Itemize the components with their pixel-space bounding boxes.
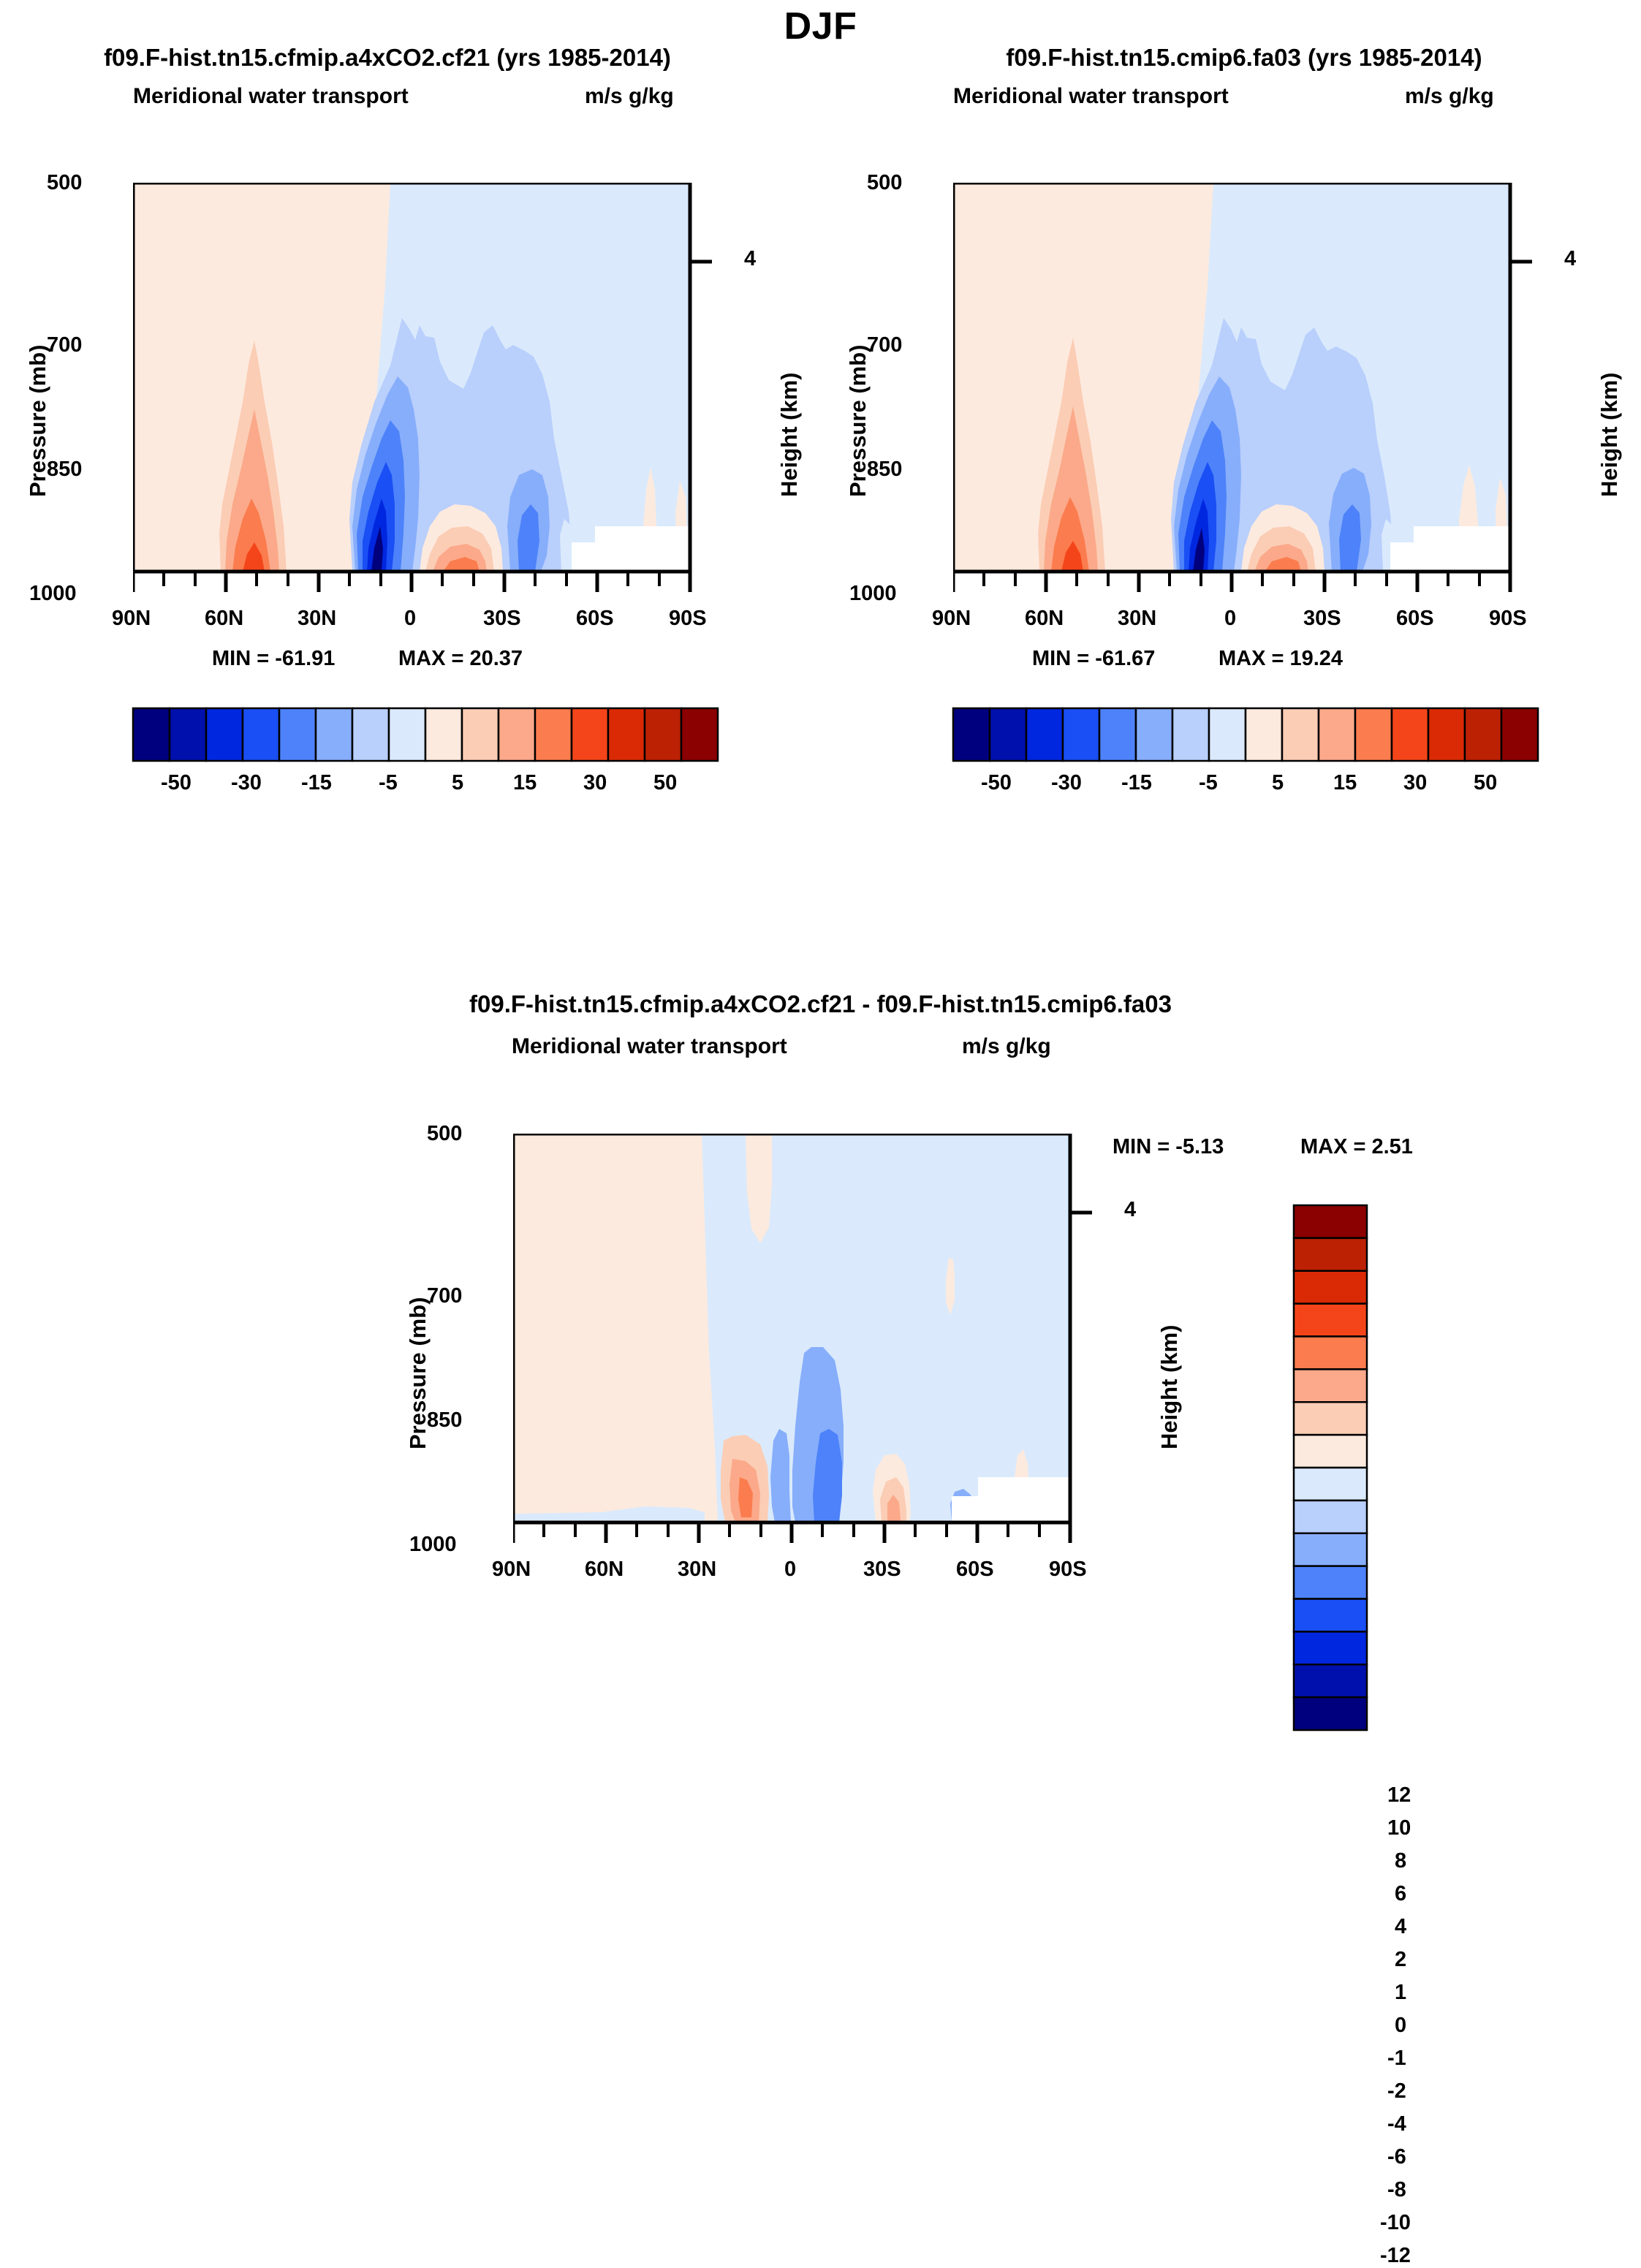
colorbar-top-left-cell-6[interactable] [352,708,389,761]
panel-bottom-diff-xtick-60S: 60S [956,1558,994,1582]
panel-top-left-ytick-1000: 1000 [29,582,77,606]
panel-top-left-cb-lab-15: 15 [513,771,537,795]
panel-bottom-diff-field-label: Meridional water transport [512,1034,787,1059]
panel-top-right-cb-lab--5: -5 [1199,771,1218,795]
panel-top-left-xtick-90S: 90S [669,607,707,631]
panel-bottom-diff-ytick-700: 700 [427,1284,462,1308]
panel-top-left-ytick-850: 850 [47,458,82,482]
colorbar-bottom-diff-cell-9[interactable] [1294,1501,1367,1533]
panel-top-left: f09.F-hist.tn15.cfmip.a4xCO2.cf21 (yrs 1… [0,44,820,965]
panel-bottom-diff-cb-lab-2: 2 [1395,1948,1406,1972]
panel-bottom-diff-y2label: Height (km) [1156,1325,1183,1450]
colorbar-bottom-diff-cell-6[interactable] [1294,1402,1367,1435]
panel-top-right-ytick-500: 500 [867,171,902,195]
panel-top-right-plot [953,183,1545,592]
panel-top-left-cb-lab--50: -50 [161,771,192,795]
panel-top-right-cb-lab-30: 30 [1403,771,1427,795]
colorbar-top-right-cell-7[interactable] [1209,708,1246,761]
colorbar-top-right-cell-8[interactable] [1246,708,1282,761]
colorbar-top-right-cell-14[interactable] [1465,708,1501,761]
colorbar-bottom-diff-cell-0[interactable] [1294,1205,1367,1238]
panel-bottom-diff-ytick-850: 850 [427,1408,462,1433]
panel-top-left-title: f09.F-hist.tn15.cfmip.a4xCO2.cf21 (yrs 1… [0,44,775,72]
panel-bottom-diff-cb-lab-12: 12 [1387,1783,1411,1808]
panel-bottom-diff-cb-lab-6: 6 [1395,1882,1406,1906]
colorbar-top-left-cell-12[interactable] [572,708,608,761]
panel-top-right-cb-lab--50: -50 [981,771,1012,795]
colorbar-bottom-diff-cell-11[interactable] [1294,1566,1367,1599]
colorbar-top-right-cell-10[interactable] [1319,708,1355,761]
panel-bottom-diff-cb-lab--10: -10 [1380,2211,1411,2235]
panel-top-right-ytick-850: 850 [867,458,902,482]
panel-top-right-cb-lab-50: 50 [1474,771,1497,795]
colorbar-top-left-cell-0[interactable] [133,708,170,761]
panel-bottom-diff-cb-lab-4: 4 [1395,1915,1406,1939]
panel-top-right-max-label: MAX = 19.24 [1219,647,1343,671]
panel-top-right-xtick-90S: 90S [1489,607,1527,631]
panel-bottom-diff-cb-lab--2: -2 [1387,2079,1406,2104]
panel-bottom-diff-title: f09.F-hist.tn15.cfmip.a4xCO2.cf21 - f09.… [0,990,1641,1018]
panel-bottom-diff-colorbar[interactable] [1291,1202,1371,1736]
colorbar-top-right-cell-13[interactable] [1428,708,1465,761]
panel-top-right-field-label: Meridional water transport [953,84,1229,109]
panel-top-left-cb-lab--30: -30 [231,771,262,795]
panel-bottom-diff-max-label: MAX = 2.51 [1300,1135,1413,1159]
colorbar-top-left-cell-1[interactable] [170,708,206,761]
panel-top-left-xtick-60N: 60N [205,607,243,631]
panel-top-right-ytick-700: 700 [867,333,902,357]
panel-top-left-cb-lab-50: 50 [653,771,677,795]
colorbar-top-right-cell-6[interactable] [1172,708,1209,761]
panel-top-left-xtick-60S: 60S [576,607,614,631]
panel-top-right-xtick-0: 0 [1224,607,1236,631]
panel-top-left-ytick-500: 500 [47,171,82,195]
panel-bottom-diff-plot [513,1134,1105,1543]
colorbar-bottom-diff-cell-12[interactable] [1294,1599,1367,1632]
panel-bottom-diff-cb-lab--4: -4 [1387,2112,1406,2136]
colorbar-bottom-diff-cell-1[interactable] [1294,1238,1367,1271]
colorbar-top-left-cell-15[interactable] [681,708,718,761]
panel-bottom-diff-cb-lab-10: 10 [1387,1816,1411,1840]
panel-bottom-diff-cb-lab--8: -8 [1387,2178,1406,2202]
colorbar-top-right-cell-0[interactable] [953,708,990,761]
panel-top-left-y2label: Height (km) [776,373,803,498]
colorbar-top-left-cell-8[interactable] [425,708,462,761]
panel-top-left-plot [133,183,725,592]
panel-top-left-cb-lab--15: -15 [301,771,332,795]
panel-top-left-min-label: MIN = -61.91 [212,647,335,671]
colorbar-top-right-cell-12[interactable] [1392,708,1428,761]
colorbar-top-left-cell-11[interactable] [535,708,572,761]
panel-top-right-units-label: m/s g/kg [1405,84,1494,109]
colorbar-bottom-diff-cell-2[interactable] [1294,1271,1367,1304]
colorbar-top-right-cell-9[interactable] [1282,708,1319,761]
colorbar-top-right-cell-1[interactable] [990,708,1026,761]
colorbar-bottom-diff-cell-5[interactable] [1294,1369,1367,1402]
panel-top-left-y2tick-4: 4 [744,247,756,271]
colorbar-top-left-cell-9[interactable] [462,708,499,761]
colorbar-bottom-diff-cell-10[interactable] [1294,1533,1367,1566]
panel-top-left-xtick-90N: 90N [112,607,151,631]
panel-top-left-xtick-30S: 30S [483,607,521,631]
panel-top-left-max-label: MAX = 20.37 [398,647,523,671]
colorbar-top-left-cell-3[interactable] [243,708,279,761]
colorbar-top-left-cell-14[interactable] [645,708,681,761]
panel-bottom-diff-cb-lab-8: 8 [1395,1849,1406,1873]
panel-bottom-diff-cb-lab--6: -6 [1387,2145,1406,2169]
colorbar-top-left-cell-4[interactable] [279,708,316,761]
panel-top-left-xtick-0: 0 [404,607,416,631]
colorbar-top-left-cell-7[interactable] [389,708,425,761]
panel-bottom-diff-cb-lab--1: -1 [1387,2047,1406,2071]
figure-title: DJF [0,4,1641,48]
panel-top-left-colorbar[interactable] [130,705,729,764]
panel-top-right-title: f09.F-hist.tn15.cmip6.fa03 (yrs 1985-201… [857,44,1631,72]
panel-top-right-cb-lab--30: -30 [1051,771,1082,795]
panel-top-left-xtick-30N: 30N [297,607,336,631]
colorbar-bottom-diff-cell-7[interactable] [1294,1435,1367,1468]
colorbar-top-left-cell-2[interactable] [206,708,243,761]
colorbar-bottom-diff-cell-8[interactable] [1294,1468,1367,1501]
panel-top-right-min-label: MIN = -61.67 [1032,647,1155,671]
panel-top-right-colorbar[interactable] [950,705,1550,764]
colorbar-top-right-cell-15[interactable] [1501,708,1538,761]
panel-bottom-diff-ytick-500: 500 [427,1122,462,1146]
colorbar-top-right-cell-4[interactable] [1099,708,1136,761]
panel-bottom-diff-xtick-60N: 60N [585,1558,624,1582]
panel-bottom-diff: f09.F-hist.tn15.cfmip.a4xCO2.cf21 - f09.… [0,990,1641,1748]
panel-top-right-xtick-30S: 30S [1303,607,1341,631]
panel-bottom-diff-xtick-90N: 90N [492,1558,531,1582]
panel-top-right-y2label: Height (km) [1596,373,1623,498]
colorbar-top-right-cell-3[interactable] [1063,708,1099,761]
colorbar-bottom-diff-cell-13[interactable] [1294,1631,1367,1664]
panel-top-left-ytick-700: 700 [47,333,82,357]
panel-bottom-diff-units-label: m/s g/kg [962,1034,1051,1059]
panel-bottom-diff-min-label: MIN = -5.13 [1113,1135,1224,1159]
panel-bottom-diff-ytick-1000: 1000 [409,1533,457,1557]
panel-top-right-xtick-60N: 60N [1025,607,1064,631]
panel-bottom-diff-xtick-90S: 90S [1049,1558,1087,1582]
panel-top-right-xtick-90N: 90N [932,607,971,631]
panel-top-left-field-label: Meridional water transport [133,84,409,109]
panel-top-right-cb-lab-15: 15 [1333,771,1357,795]
panel-top-left-cb-lab-5: 5 [452,771,463,795]
colorbar-bottom-diff-cell-3[interactable] [1294,1304,1367,1337]
panel-bottom-diff-cb-lab--12: -12 [1380,2244,1411,2268]
panel-top-right-xtick-30N: 30N [1118,607,1156,631]
panel-top-left-cb-lab-30: 30 [583,771,607,795]
panel-bottom-diff-xtick-30N: 30N [678,1558,716,1582]
colorbar-top-left-cell-10[interactable] [499,708,535,761]
panel-bottom-diff-xtick-30S: 30S [863,1558,901,1582]
panel-bottom-diff-y2tick-4: 4 [1124,1198,1136,1222]
panel-top-right-cb-lab--15: -15 [1121,771,1152,795]
colorbar-top-right-cell-5[interactable] [1136,708,1172,761]
panel-top-left-units-label: m/s g/kg [585,84,674,109]
colorbar-top-left-cell-13[interactable] [608,708,645,761]
colorbar-bottom-diff-cell-15[interactable] [1294,1697,1367,1730]
colorbar-top-right-cell-11[interactable] [1355,708,1392,761]
colorbar-top-left-cell-5[interactable] [316,708,352,761]
panel-top-left-cb-lab--5: -5 [379,771,398,795]
panel-top-right-xtick-60S: 60S [1396,607,1434,631]
panel-bottom-diff-cb-lab-1: 1 [1395,1981,1406,2005]
panel-top-right-y2tick-4: 4 [1564,247,1576,271]
colorbar-bottom-diff-cell-4[interactable] [1294,1337,1367,1370]
panel-bottom-diff-xtick-0: 0 [784,1558,796,1582]
colorbar-top-right-cell-2[interactable] [1026,708,1063,761]
panel-top-right-cb-lab-5: 5 [1272,771,1284,795]
panel-top-right: f09.F-hist.tn15.cmip6.fa03 (yrs 1985-201… [820,44,1641,965]
panel-top-right-ytick-1000: 1000 [849,582,897,606]
panel-bottom-diff-cb-lab-0: 0 [1395,2014,1406,2038]
colorbar-bottom-diff-cell-14[interactable] [1294,1664,1367,1697]
